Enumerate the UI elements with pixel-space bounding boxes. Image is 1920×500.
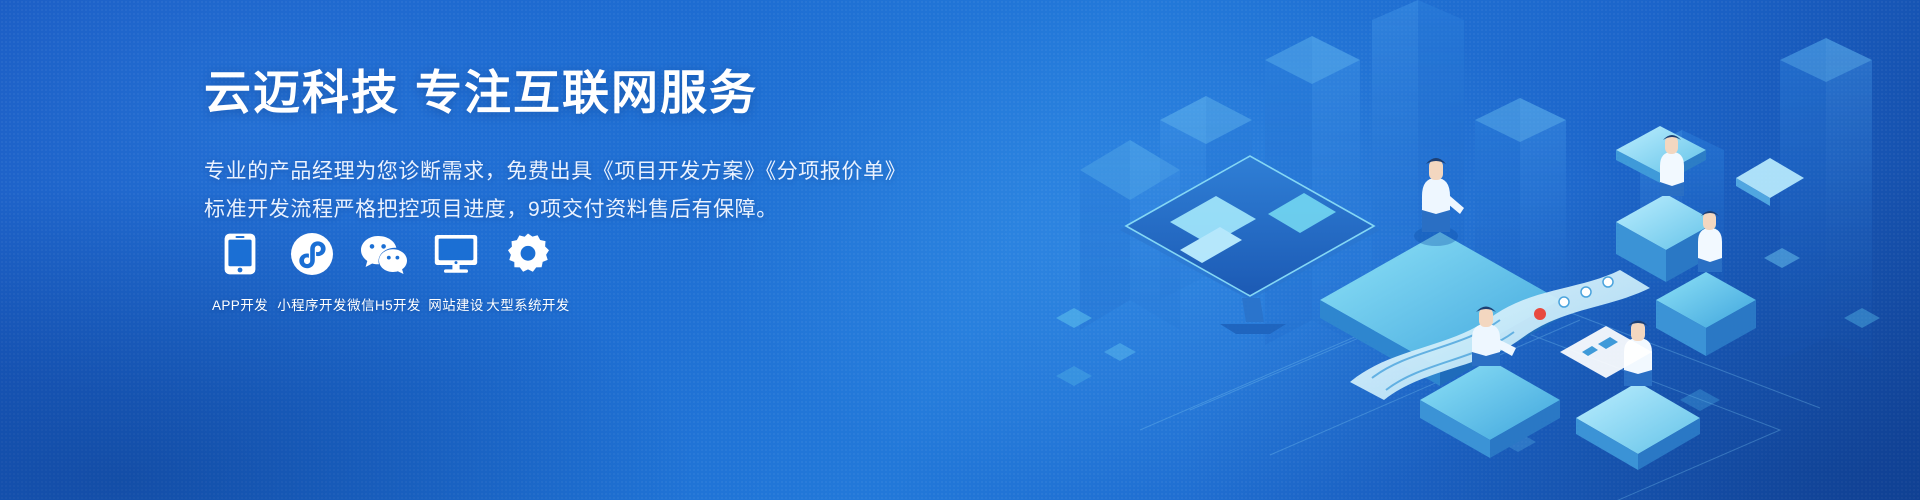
- service-list: APP开发 小程序开发 微信: [204, 228, 564, 314]
- cube-right-upper: [1616, 194, 1716, 282]
- desktop-monitor: [1120, 156, 1380, 334]
- hero-banner: 云迈科技 专注互联网服务 专业的产品经理为您诊断需求，免费出具《项目开发方案》《…: [0, 0, 1920, 500]
- service-label: 大型系统开发: [486, 294, 569, 314]
- service-item-website[interactable]: 网站建设: [420, 228, 492, 314]
- service-item-system[interactable]: 大型系统开发: [492, 228, 564, 314]
- desk-left-bottom: [1420, 360, 1560, 458]
- banner-text-block: 云迈科技 专注互联网服务 专业的产品经理为您诊断需求，免费出具《项目开发方案》《…: [204, 64, 964, 229]
- gear-icon: [502, 228, 554, 280]
- person-right-lower: [1698, 211, 1722, 272]
- small-device-panel: [1616, 126, 1706, 184]
- wechat-icon: [358, 228, 410, 280]
- person-bottom-center: [1624, 321, 1652, 387]
- plate-bottom-center: [1576, 382, 1700, 470]
- service-label: 小程序开发: [277, 294, 347, 314]
- mini-chart-card: [1560, 326, 1652, 378]
- monitor-icon: [430, 228, 482, 280]
- person-desk-left: [1472, 307, 1516, 367]
- floating-diamonds: [1056, 248, 1880, 452]
- subtitle-line-1: 专业的产品经理为您诊断需求，免费出具《项目开发方案》《分项报价单》: [204, 153, 964, 191]
- service-item-app[interactable]: APP开发: [204, 228, 276, 314]
- cube-right-lower: [1656, 272, 1756, 356]
- service-item-miniprogram[interactable]: 小程序开发: [276, 228, 348, 314]
- background-towers: [1080, 0, 1872, 360]
- center-pedestal: [1320, 232, 1560, 386]
- service-label: APP开发: [212, 294, 268, 314]
- data-sheet-wave: [1350, 270, 1650, 400]
- banner-subtitle: 专业的产品经理为您诊断需求，免费出具《项目开发方案》《分项报价单》 标准开发流程…: [204, 153, 964, 229]
- isometric-illustration: [1020, 0, 1920, 500]
- small-floating-card: [1736, 158, 1804, 206]
- mobile-phone-icon: [214, 228, 266, 280]
- grid-floor: [1140, 282, 1820, 500]
- person-upper-right: [1660, 135, 1684, 196]
- mini-program-icon: [286, 228, 338, 280]
- service-label: 网站建设: [428, 294, 484, 314]
- service-label: 微信H5开发: [347, 294, 421, 314]
- service-item-wechat[interactable]: 微信H5开发: [348, 228, 420, 314]
- person-standing-center: [1414, 158, 1464, 246]
- banner-headline: 云迈科技 专注互联网服务: [204, 64, 964, 123]
- subtitle-line-2: 标准开发流程严格把控项目进度，9项交付资料售后有保障。: [204, 191, 964, 229]
